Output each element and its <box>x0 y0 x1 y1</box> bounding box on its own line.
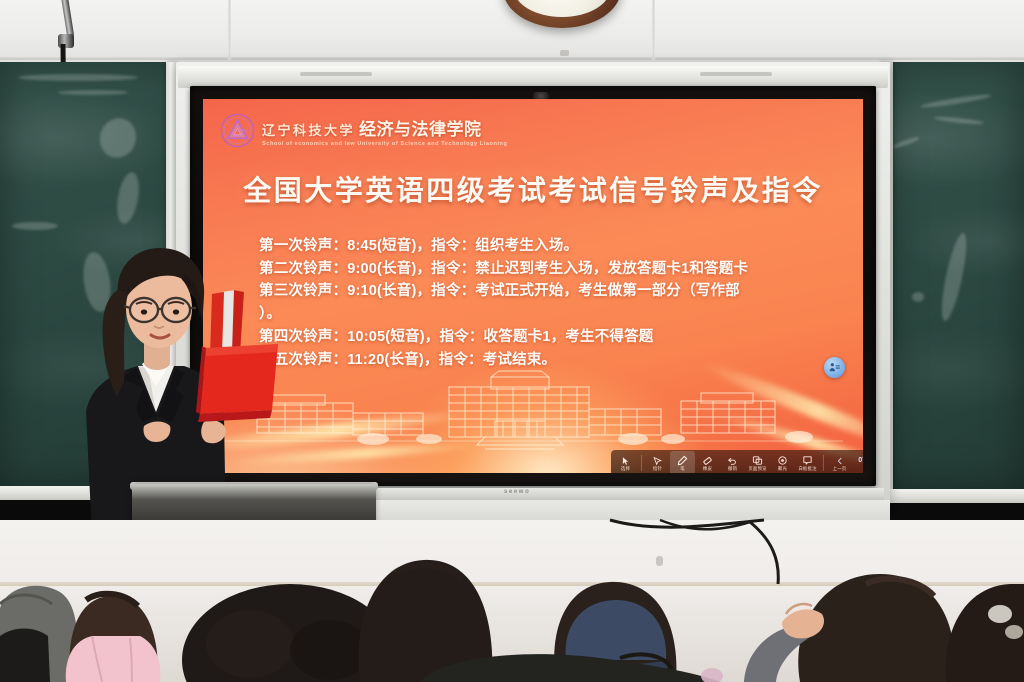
slide-line: 第四次铃声：10:05(短音)，指令：收答题卡1，考生不得答题 <box>259 328 819 348</box>
college-logo-lockup: 辽宁科技大学 经济与法律学院 School of economics and l… <box>220 113 508 148</box>
slide-line: ）。 <box>259 305 819 325</box>
slide-line: 第五次铃声：11:20(长音)，指令：考试结束。 <box>259 351 819 371</box>
toolbar-divider <box>641 455 642 471</box>
logo-text-block: 辽宁科技大学 经济与法律学院 School of economics and l… <box>262 115 508 147</box>
logo-university-name: 辽宁科技大学 <box>262 120 355 139</box>
toolbar-undo-label: 撤销 <box>728 467 737 471</box>
display-top-rail <box>178 66 888 88</box>
hair-clip <box>988 605 1012 623</box>
audience-row <box>0 540 1024 682</box>
campus-building-lineart <box>203 369 863 455</box>
wall-panel-joint <box>228 0 231 60</box>
slide-line: 第一次铃声：8:45(短音)，指令：组织考生入场。 <box>259 237 819 257</box>
slide-body-text: 第一次铃声：8:45(短音)，指令：组织考生入场。 第二次铃声：9:00(长音)… <box>259 237 819 370</box>
person-annotation-icon <box>828 361 841 374</box>
audience-member <box>66 594 161 682</box>
slide-annotation-fab[interactable] <box>824 357 845 378</box>
toolbar-cursor-label: 选择 <box>621 467 630 471</box>
toolbar-whiteboard-button[interactable]: 白板批注 <box>795 451 820 473</box>
classroom-scene: 11 12 1 <box>0 0 1024 682</box>
toolbar-prev-label: 上一页 <box>833 467 847 471</box>
toolbar-eraser-button[interactable]: 橡皮 <box>695 451 720 473</box>
audience-member <box>744 574 955 682</box>
toolbar-page-indicator[interactable]: 07/44 页码 <box>852 451 863 473</box>
toolbar-whiteboard-label: 白板批注 <box>798 467 816 471</box>
slide-line: 第二次铃声：9:00(长音)，指令：禁止迟到考生入场，发放答题卡1和答题卡 <box>259 260 819 280</box>
toolbar-pen-label: 笔 <box>680 467 685 471</box>
toolbar-pointer-label: 指针 <box>653 467 662 471</box>
chalkboard-right <box>886 62 1024 490</box>
toolbar-spotlight-label: 聚光 <box>778 467 787 471</box>
presentation-toolbar[interactable]: 选择 指针 笔 橡皮 <box>611 450 863 473</box>
wall-fixture <box>560 50 569 56</box>
slide-title: 全国大学英语四级考试考试信号铃声及指令 <box>203 169 863 209</box>
slide-line: 第三次铃声：9:10(长音)，指令：考试正式开始，考生做第一部分（写作部 <box>259 282 819 302</box>
chalk-ledge-right <box>880 489 1024 503</box>
toolbar-eraser-label: 橡皮 <box>703 467 712 471</box>
toolbar-spotlight-button[interactable]: 聚光 <box>770 451 795 473</box>
toolbar-prev-page-button[interactable]: 上一页 <box>827 451 852 473</box>
toolbar-slides-button[interactable]: 页面预览 <box>745 451 770 473</box>
logo-chinese-line: 辽宁科技大学 经济与法律学院 <box>262 115 508 140</box>
wall-panel-joint <box>652 0 655 60</box>
display-vent <box>300 72 372 76</box>
display-brand-label: seewo <box>504 489 530 495</box>
toolbar-divider <box>823 455 824 471</box>
toolbar-pointer-button[interactable]: 指针 <box>645 451 670 473</box>
wall-clock: 11 12 1 <box>503 0 621 28</box>
audience-member <box>946 584 1024 682</box>
hair-clip <box>701 668 723 682</box>
toolbar-undo-button[interactable]: 撤销 <box>720 451 745 473</box>
presentation-slide[interactable]: 辽宁科技大学 经济与法律学院 School of economics and l… <box>203 99 863 473</box>
logo-english-subtitle: School of economics and law University o… <box>262 141 508 147</box>
toolbar-cursor-button[interactable]: 选择 <box>613 451 638 473</box>
toolbar-slides-label: 页面预览 <box>748 467 766 471</box>
display-vent <box>700 72 772 76</box>
toolbar-pen-button[interactable]: 笔 <box>670 451 695 473</box>
page-indicator-value: 07/44 <box>858 457 863 464</box>
university-emblem-icon <box>220 113 255 148</box>
logo-college-name: 经济与法律学院 <box>359 115 482 140</box>
red-folder <box>160 288 280 428</box>
wall-seam <box>0 57 1024 60</box>
